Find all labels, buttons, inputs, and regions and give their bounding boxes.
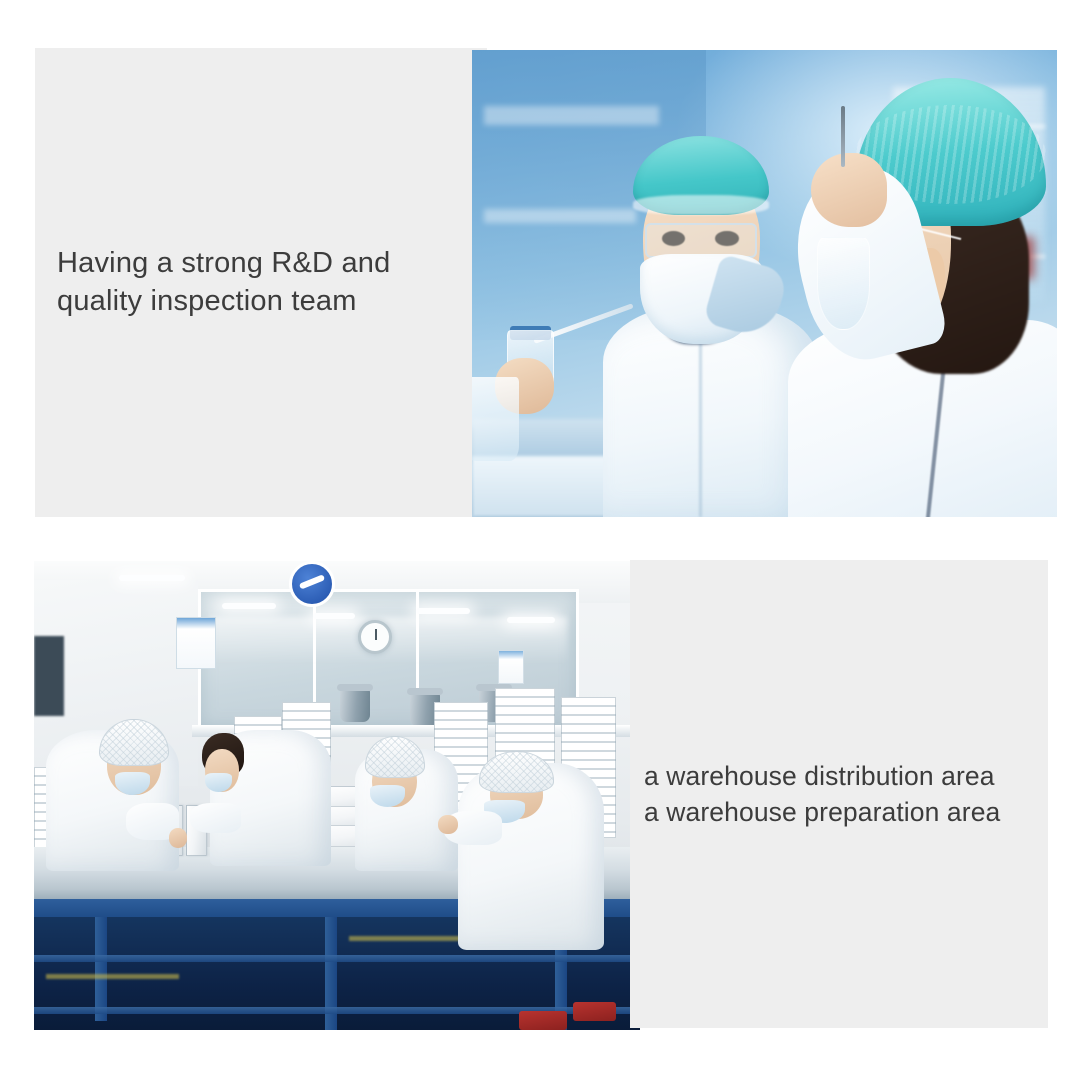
safety-glasses	[645, 223, 757, 258]
hair-net-texture	[480, 752, 554, 791]
worker-arm	[190, 803, 241, 833]
warehouse-worker-right	[458, 763, 603, 951]
floor-marking	[349, 936, 470, 941]
worker-shoe	[573, 1002, 615, 1021]
floor-marking	[46, 974, 179, 979]
wall-clock-icon	[358, 620, 392, 654]
gloved-hand	[811, 153, 887, 228]
wall-notice-poster	[176, 617, 216, 669]
table-rail	[34, 955, 640, 962]
caption-text-rnd: Having a strong R&D and quality inspecti…	[35, 245, 400, 320]
warehouse-worker-middle	[355, 749, 458, 871]
showcase-page: Having a strong R&D and quality inspecti…	[0, 0, 1080, 1080]
ceiling-light	[313, 613, 355, 619]
hair-net-texture	[366, 737, 424, 776]
warehouse-worker-bending	[210, 730, 331, 866]
lab-inspection-photo	[472, 50, 1057, 517]
worker-hand	[169, 828, 188, 848]
glass-flask	[817, 237, 870, 330]
section-rnd-quality: Having a strong R&D and quality inspecti…	[0, 0, 1080, 540]
lab-shelf	[484, 106, 660, 125]
wall-dark-panel	[34, 636, 64, 716]
worker-hand	[438, 815, 458, 834]
worker-shoe	[519, 1011, 567, 1030]
lab-coat-seam	[699, 344, 702, 517]
caption-panel-rnd: Having a strong R&D and quality inspecti…	[35, 48, 487, 517]
ceiling-light	[416, 608, 471, 614]
warehouse-worker-left	[46, 730, 179, 871]
hair-net-band	[633, 195, 769, 215]
section-warehouse-areas: a warehouse distribution area a warehous…	[0, 540, 1080, 1080]
foreground-glassware	[472, 377, 519, 461]
stainless-pot	[340, 688, 370, 722]
ceiling-light	[507, 617, 555, 623]
blue-circular-sign-icon	[289, 561, 335, 607]
caption-panel-warehouse: a warehouse distribution area a warehous…	[630, 560, 1048, 1028]
ceiling-light	[119, 575, 186, 581]
wall-notice-poster	[498, 650, 524, 684]
table-leg	[95, 917, 107, 1020]
sample-vial	[841, 106, 845, 167]
ceiling-light	[222, 603, 277, 609]
warehouse-packing-photo	[34, 561, 640, 1030]
caption-text-warehouse: a warehouse distribution area a warehous…	[630, 758, 1006, 830]
